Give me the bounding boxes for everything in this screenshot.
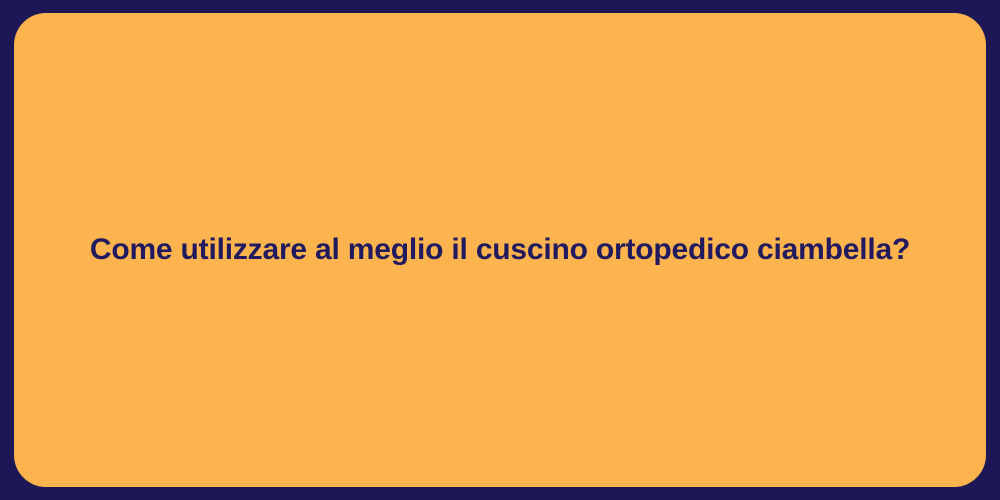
banner-card: Come utilizzare al meglio il cuscino ort… — [14, 13, 986, 487]
banner-root: Come utilizzare al meglio il cuscino ort… — [0, 0, 1000, 500]
page-title: Come utilizzare al meglio il cuscino ort… — [90, 231, 910, 269]
